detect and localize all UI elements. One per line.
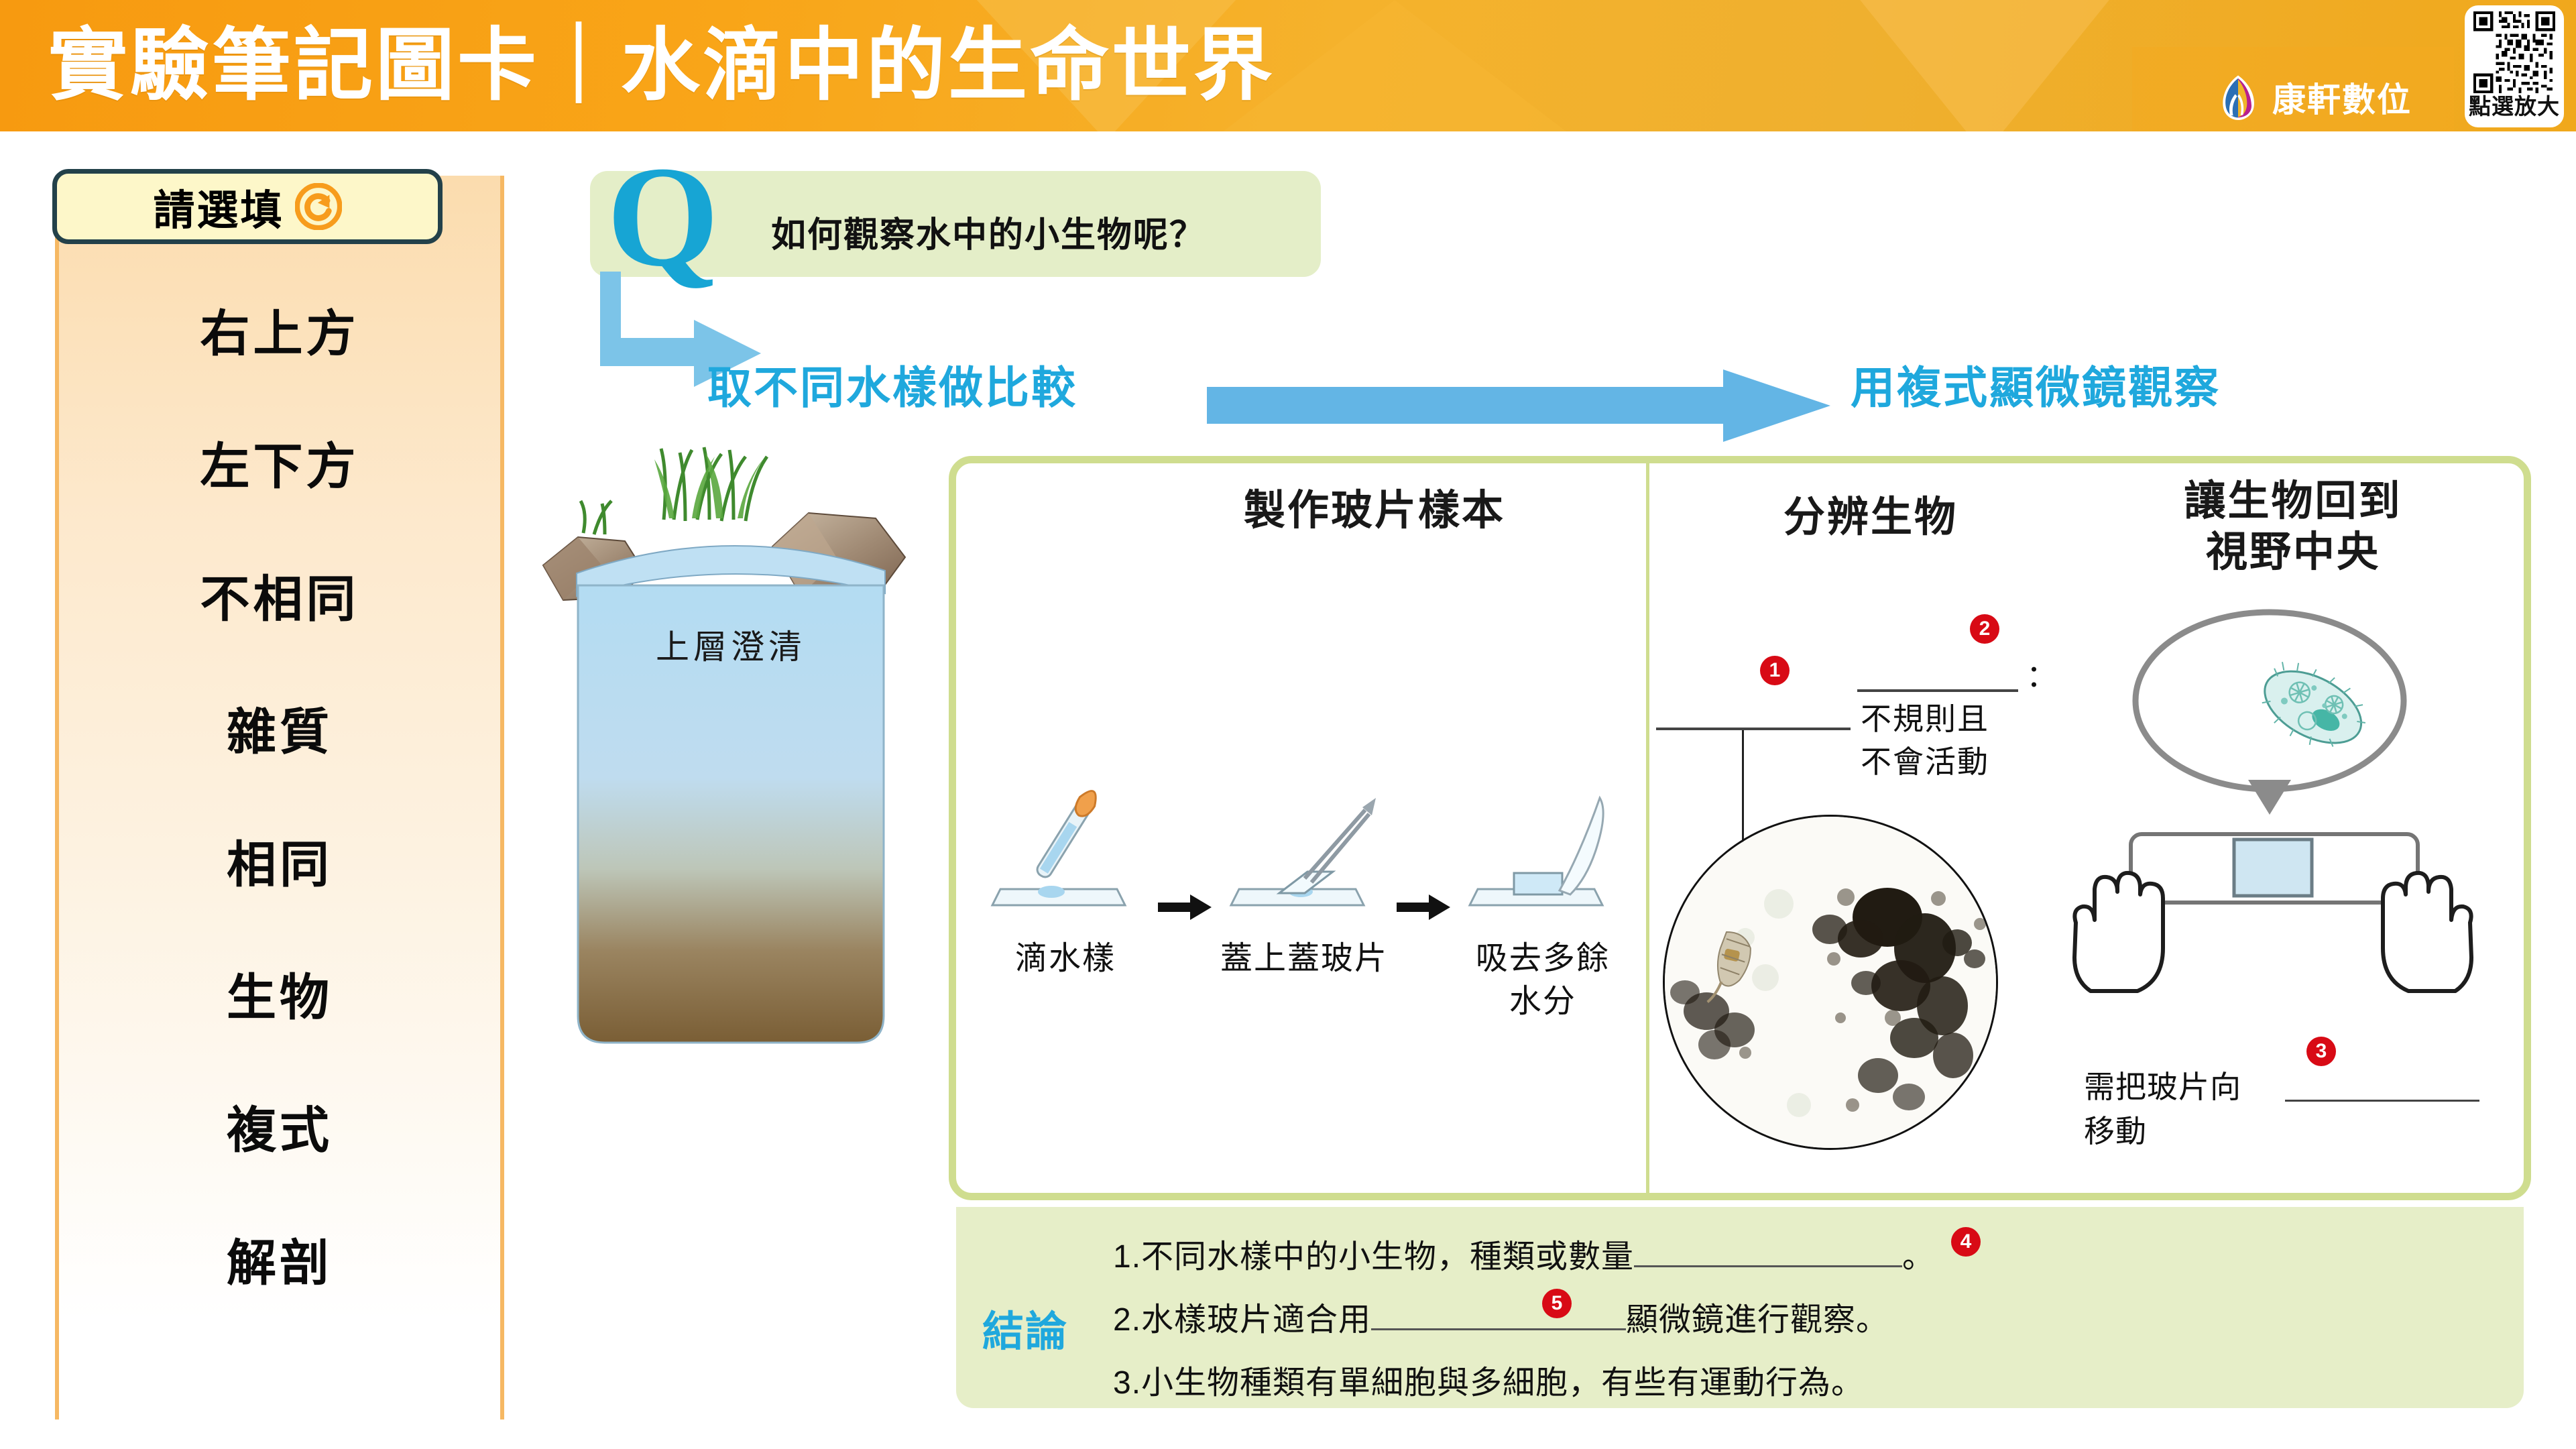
blank-2-description: 不規則且 不會活動 xyxy=(1861,697,2062,783)
brand-mark: 康軒數位 xyxy=(2213,72,2412,122)
flow-step-left-label: 取不同水樣做比較 xyxy=(707,352,1077,416)
glass-slide-with-hands-icon xyxy=(2065,825,2481,1056)
word-bank-option[interactable]: 雜質 xyxy=(55,661,504,794)
conclusion-line-1-text: 1.不同水樣中的小生物，種類或數量 xyxy=(1113,1239,1634,1275)
blank-field-5[interactable] xyxy=(1371,1328,1626,1330)
conclusion-line-1-end: 。 xyxy=(1902,1239,1935,1275)
step-arrow-icon xyxy=(1394,771,1453,921)
blank-field-1[interactable] xyxy=(1656,728,1851,730)
step-arrow-icon xyxy=(1155,771,1214,921)
conclusion-line-2-end: 顯微鏡進行觀察。 xyxy=(1626,1302,1889,1338)
word-bank-option[interactable]: 不相同 xyxy=(55,528,504,661)
blank-marker-2: 2 xyxy=(1970,614,1999,644)
slide-making-steps: 滴水樣 蓋上蓋玻片 xyxy=(976,771,1633,1023)
step-label: 吸去多餘 水分 xyxy=(1476,937,1610,1023)
question-text: 如何觀察水中的小生物呢？ xyxy=(771,207,1206,257)
slide-making-title: 製作玻片樣本 xyxy=(1113,476,1636,536)
blank-marker-5: 5 xyxy=(1542,1289,1572,1318)
qr-code-icon xyxy=(2473,11,2556,93)
header-decor-triangle xyxy=(1844,0,2125,131)
conclusion-line-3: 3.小生物種類有單細胞與多細胞，有些有運動行為。 xyxy=(1113,1352,2487,1415)
word-bank-option[interactable]: 生物 xyxy=(55,927,504,1059)
jar-lower-label: 下層混濁 xyxy=(536,1150,925,1198)
question-letter: Q xyxy=(607,144,719,288)
dropper-on-slide-icon xyxy=(982,771,1149,925)
microscope-field-of-view-icon xyxy=(2115,607,2424,831)
blank-2-colon: ： xyxy=(2026,652,2057,696)
blank-marker-3: 3 xyxy=(2306,1037,2336,1066)
word-bank-option[interactable]: 解剖 xyxy=(55,1192,504,1325)
page-title: 實驗筆記圖卡｜水滴中的生命世界 xyxy=(48,5,1275,126)
qr-caption: 點選放大 xyxy=(2469,93,2560,120)
recenter-text-before: 需把玻片向 xyxy=(2084,1069,2241,1104)
brand-name: 康軒數位 xyxy=(2272,73,2412,121)
word-bank-option[interactable]: 左下方 xyxy=(55,396,504,528)
recenter-text-after: 移動 xyxy=(2084,1114,2147,1149)
absorbent-paper-slide-icon xyxy=(1459,771,1627,925)
step-item: 蓋上蓋玻片 xyxy=(1214,771,1394,980)
word-bank-option[interactable]: 右上方 xyxy=(55,263,504,396)
word-bank-title: 請選填 xyxy=(153,176,284,237)
kanghsuan-logo-icon xyxy=(2213,72,2263,122)
jar-svg xyxy=(536,439,925,1069)
word-bank-header: 請選填 xyxy=(52,169,443,244)
distinguish-title: 分辨生物 xyxy=(1696,483,2045,543)
tweezers-coverslip-icon xyxy=(1220,771,1388,925)
conclusion-line-2: 2.水樣玻片適合用顯微鏡進行觀察。 xyxy=(1113,1289,2487,1352)
conclusion-line-1: 1.不同水樣中的小生物，種類或數量。 xyxy=(1113,1226,2487,1289)
app-header: 實驗筆記圖卡｜水滴中的生命世界 康軒數位 xyxy=(0,0,2576,131)
jar-upper-label: 上層澄清 xyxy=(536,620,925,669)
step-label: 蓋上蓋玻片 xyxy=(1220,937,1388,980)
reset-circular-arrow-icon[interactable] xyxy=(295,183,342,230)
water-sample-jar-illustration: 上層澄清 下層混濁 xyxy=(536,439,925,1069)
recenter-title: 讓生物回到 視野中央 xyxy=(2072,476,2514,578)
right-arrow-icon xyxy=(1207,365,1830,446)
word-bank-list: 右上方 左下方 不相同 雜質 相同 生物 複式 解剖 xyxy=(55,263,504,1325)
blank-field-4[interactable] xyxy=(1634,1265,1902,1267)
conclusion-label: 結論 xyxy=(982,1297,1068,1358)
microscope-field-photo xyxy=(1663,815,1998,1150)
panel-divider xyxy=(1646,456,1649,1200)
flow-step-right-label: 用複式顯微鏡觀察 xyxy=(1851,352,2221,416)
conclusion-line-2-text: 2.水樣玻片適合用 xyxy=(1113,1302,1371,1338)
blank-field-2[interactable] xyxy=(1857,689,2018,692)
blank-marker-1: 1 xyxy=(1760,656,1790,685)
blank-marker-4: 4 xyxy=(1951,1227,1981,1257)
recenter-instruction: 需把玻片向 移動 xyxy=(2084,1065,2365,1153)
step-item: 滴水樣 xyxy=(976,771,1155,980)
word-bank-option[interactable]: 相同 xyxy=(55,794,504,927)
step-item: 吸去多餘 水分 xyxy=(1453,771,1633,1023)
blank-field-3[interactable] xyxy=(2285,1100,2479,1102)
qr-enlarge-button[interactable]: 點選放大 xyxy=(2465,5,2564,127)
word-bank-option[interactable]: 複式 xyxy=(55,1059,504,1192)
step-label: 滴水樣 xyxy=(1015,937,1116,980)
conclusion-lines: 1.不同水樣中的小生物，種類或數量。 2.水樣玻片適合用顯微鏡進行觀察。 3.小… xyxy=(1113,1226,2487,1415)
